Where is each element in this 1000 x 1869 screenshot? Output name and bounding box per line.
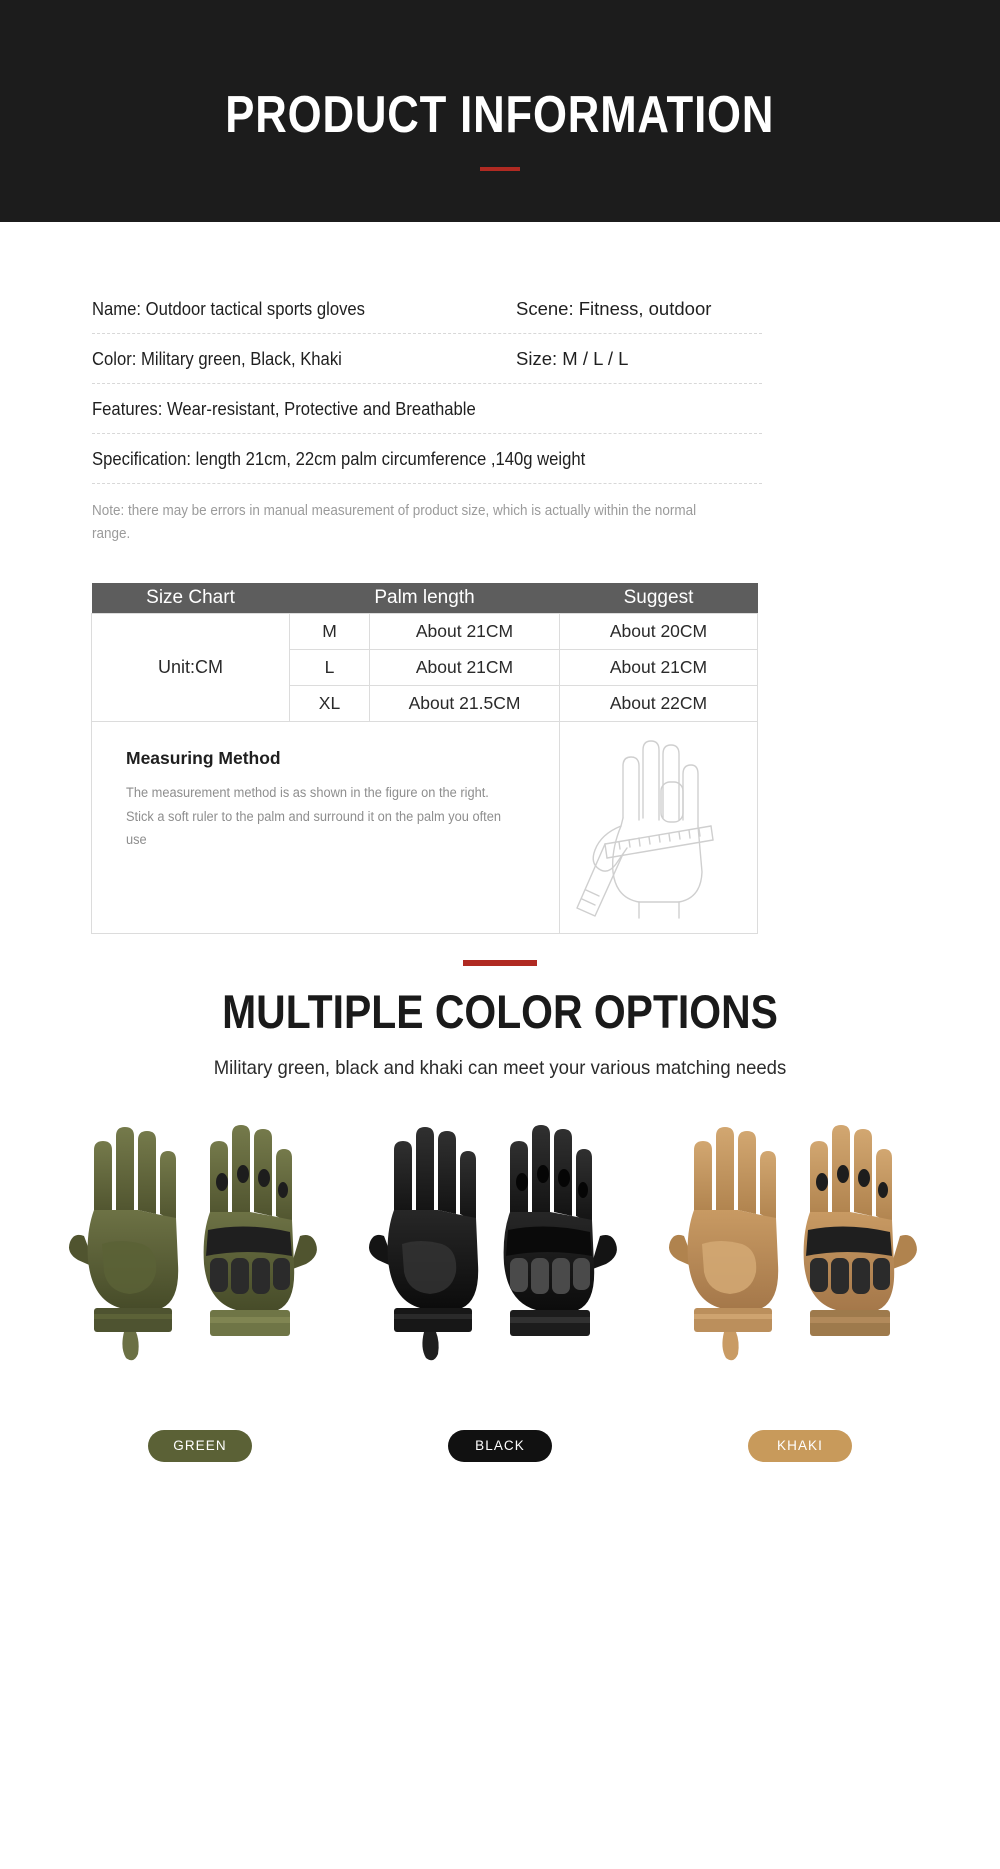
- color-options-subtitle: Military green, black and khaki can meet…: [25, 1057, 975, 1080]
- cell-palm-length: About 21CM: [370, 650, 560, 686]
- color-options-section: MULTIPLE COLOR OPTIONS Military green, b…: [0, 960, 1000, 1462]
- measuring-method-title: Measuring Method: [126, 748, 529, 769]
- glove-pair-khaki-icon: [650, 1114, 950, 1404]
- measuring-method-body: The measurement method is as shown in th…: [126, 781, 509, 851]
- hand-measuring-diagram-icon: [561, 722, 757, 928]
- cell-suggest: About 21CM: [560, 650, 758, 686]
- spec-row: Features: Wear-resistant, Protective and…: [92, 384, 762, 434]
- color-badge-row: GREEN BLACK KHAKI: [0, 1430, 1000, 1462]
- hand-diagram-cell: [560, 722, 758, 934]
- cell-palm-length: About 21.5CM: [370, 686, 560, 722]
- specification-section: Name: Outdoor tactical sports gloves Sce…: [0, 222, 1000, 547]
- badge-cell-khaki: KHAKI: [650, 1430, 950, 1462]
- measuring-method-cell: Measuring Method The measurement method …: [92, 722, 560, 934]
- size-chart-table: Size Chart Palm length Suggest Unit:CM M…: [91, 583, 758, 935]
- badge-cell-green: GREEN: [50, 1430, 350, 1462]
- spec-row: Color: Military green, Black, Khaki Size…: [92, 334, 762, 384]
- color-badge-black[interactable]: BLACK: [448, 1430, 552, 1462]
- cell-suggest: About 22CM: [560, 686, 758, 722]
- glove-image-row: [0, 1114, 1000, 1404]
- color-options-title: MULTIPLE COLOR OPTIONS: [65, 984, 935, 1039]
- header-size-chart: Size Chart: [92, 583, 290, 614]
- color-badge-khaki[interactable]: KHAKI: [748, 1430, 852, 1462]
- spec-features-value: Features: Wear-resistant, Protective and…: [92, 398, 476, 420]
- measurement-note: Note: there may be errors in manual meas…: [92, 500, 715, 547]
- color-badge-green[interactable]: GREEN: [148, 1430, 252, 1462]
- header-palm-length: Palm length: [290, 583, 560, 614]
- badge-cell-black: BLACK: [350, 1430, 650, 1462]
- cell-suggest: About 20CM: [560, 614, 758, 650]
- specification-list: Name: Outdoor tactical sports gloves Sce…: [92, 284, 762, 484]
- cell-palm-length: About 21CM: [370, 614, 560, 650]
- glove-pair-green-icon: [50, 1114, 350, 1404]
- spec-size-value: Size: M / L / L: [516, 348, 628, 370]
- spec-row: Name: Outdoor tactical sports gloves Sce…: [92, 284, 762, 334]
- table-row: Unit:CM M About 21CM About 20CM: [92, 614, 758, 650]
- header-suggest: Suggest: [560, 583, 758, 614]
- glove-pair-black-icon: [350, 1114, 650, 1404]
- glove-image-green: [50, 1114, 350, 1404]
- unit-label: Unit:CM: [92, 614, 290, 722]
- measuring-method-row: Measuring Method The measurement method …: [92, 722, 758, 934]
- spec-specification-value: Specification: length 21cm, 22cm palm ci…: [92, 448, 585, 470]
- glove-image-khaki: [650, 1114, 950, 1404]
- page-header-banner: PRODUCT INFORMATION: [0, 0, 1000, 222]
- header-accent-rule: [480, 167, 520, 171]
- spec-row: Specification: length 21cm, 22cm palm ci…: [92, 434, 762, 484]
- spec-name-value: Name: Outdoor tactical sports gloves: [92, 298, 474, 320]
- spec-color-value: Color: Military green, Black, Khaki: [92, 348, 474, 370]
- cell-size: XL: [290, 686, 370, 722]
- cell-size: M: [290, 614, 370, 650]
- glove-image-black: [350, 1114, 650, 1404]
- color-section-accent-rule: [463, 960, 537, 966]
- size-chart-header-row: Size Chart Palm length Suggest: [92, 583, 758, 614]
- page-title: PRODUCT INFORMATION: [226, 85, 775, 145]
- spec-scene-value: Scene: Fitness, outdoor: [516, 298, 711, 320]
- cell-size: L: [290, 650, 370, 686]
